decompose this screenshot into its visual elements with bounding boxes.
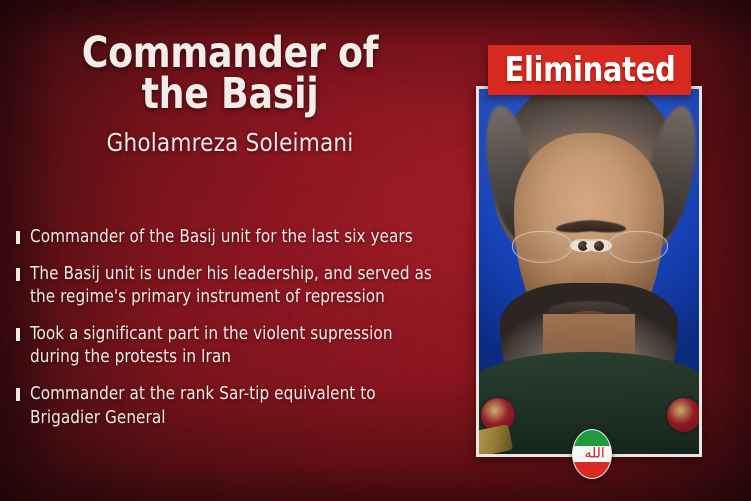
portrait-photo [479,89,699,454]
portrait-sheen [479,89,699,454]
flag-emblem-icon: الله [585,447,600,462]
bullet-text: Commander of the Basij unit for the last… [30,226,413,249]
bullet-marker-icon [16,328,20,341]
flag-stripe-red [573,462,611,478]
bullet-marker-icon [16,268,20,281]
list-item: Took a significant part in the violent s… [16,323,456,369]
bullet-marker-icon [16,231,20,244]
portrait-frame [476,86,702,457]
headline-line-2: the Basij [14,74,446,115]
list-item: Commander of the Basij unit for the last… [16,226,456,249]
bullet-text: The Basij unit is under his leadership, … [30,263,443,309]
list-item: Commander at the rank Sar-tip equivalent… [16,383,456,429]
iran-flag-icon: الله [572,429,612,479]
list-item: The Basij unit is under his leadership, … [16,263,456,309]
bullet-marker-icon [16,388,20,401]
subject-name: Gholamreza Soleimani [9,128,451,157]
left-content-column: Commander of the Basij Gholamreza Soleim… [0,0,465,501]
status-badge: Eliminated [488,45,691,95]
bullet-text: Took a significant part in the violent s… [30,323,443,369]
bullet-list: Commander of the Basij unit for the last… [16,226,456,444]
title-block: Commander of the Basij Gholamreza Soleim… [0,33,460,157]
flag-stripe-green [573,430,611,446]
status-badge-label: Eliminated [504,53,675,87]
poster-root: Commander of the Basij Gholamreza Soleim… [0,0,751,501]
page-title: Commander of the Basij [14,33,446,116]
bullet-text: Commander at the rank Sar-tip equivalent… [30,383,443,429]
